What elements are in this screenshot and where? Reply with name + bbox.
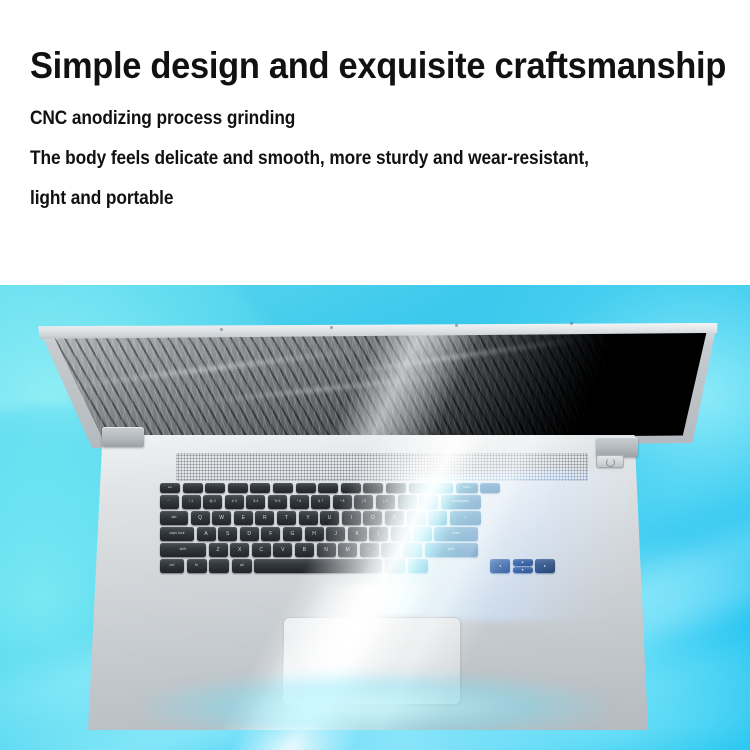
key-7[interactable]: & 7	[311, 495, 330, 509]
keyboard-row-home[interactable]: caps lockASDFGHJKL: ;" 'enter	[160, 527, 478, 541]
key-o[interactable]: O	[363, 511, 382, 525]
key-i[interactable]: I	[342, 511, 361, 525]
key-p[interactable]: P	[385, 511, 404, 525]
key-arrow-up-icon[interactable]: ▴	[513, 559, 533, 566]
keyboard-row-function[interactable]: escprtsc insertdelete	[160, 483, 500, 493]
key-label: K	[356, 532, 359, 537]
key-label: $ 4	[253, 500, 258, 503]
key-9[interactable]: ( 9	[354, 495, 373, 509]
key-n[interactable]: N	[317, 543, 336, 557]
keyboard-row-bottom[interactable]: ctrlfnaltalt	[160, 559, 428, 573]
key-6[interactable]: ^ 6	[290, 495, 309, 509]
key-blank[interactable]: | \	[450, 511, 481, 525]
hinge-left	[102, 427, 144, 447]
key-label: enter	[452, 532, 460, 535]
key-label: ▾	[522, 568, 524, 572]
key-label: C	[259, 548, 263, 553]
hinge-right	[596, 437, 638, 457]
key-label: & 7	[318, 500, 323, 503]
key-enter[interactable]: enter	[434, 527, 478, 541]
power-button[interactable]	[596, 455, 624, 468]
key-label: shift	[180, 548, 187, 551]
key-blank[interactable]: : ;	[391, 527, 410, 541]
subheading-line-1: CNC anodizing process grinding	[30, 109, 658, 128]
key-print-screen-icon[interactable]	[409, 483, 429, 493]
lid-edge-dot-2	[330, 326, 333, 329]
key-a[interactable]: A	[197, 527, 216, 541]
key-label: _ -	[405, 500, 409, 503]
key-label: prtsc insert	[435, 487, 449, 490]
key-volume-up-icon[interactable]	[363, 483, 383, 493]
lid-edge-dot-3	[570, 322, 573, 325]
key-label: backspace	[452, 500, 469, 503]
key-shift[interactable]: shift	[160, 543, 206, 557]
key-label: Z	[217, 548, 220, 553]
key-label: @ 2	[209, 500, 216, 503]
laptop-device: escprtsc insertdelete ~ `! 1@ 2# 3$ 4% 5…	[0, 285, 750, 750]
key-arrow-left-icon[interactable]: ◂	[490, 559, 510, 573]
key-label: M	[346, 548, 350, 553]
key-fn[interactable]: fn	[187, 559, 207, 573]
key-arrow-right-icon[interactable]: ▸	[535, 559, 555, 573]
lid-edge-dot-1	[220, 328, 223, 331]
key-label: U	[328, 516, 332, 521]
key-label: ? /	[410, 548, 414, 551]
key-k[interactable]: K	[348, 527, 367, 541]
key-5[interactable]: % 5	[268, 495, 287, 509]
key-g[interactable]: G	[283, 527, 302, 541]
key-label: A	[204, 532, 207, 537]
key-label: # 3	[232, 500, 237, 503]
key-label: | \	[464, 516, 467, 519]
key-blank[interactable]: " '	[413, 527, 432, 541]
key-x[interactable]: X	[230, 543, 249, 557]
key-q[interactable]: Q	[191, 511, 210, 525]
key-z[interactable]: Z	[209, 543, 228, 557]
key-blank[interactable]: ? /	[403, 543, 422, 557]
key-label: N	[324, 548, 328, 553]
key-blank[interactable]: ~ `	[160, 495, 179, 509]
key-label: F	[269, 532, 272, 537]
key-h[interactable]: H	[305, 527, 324, 541]
product-photo: escprtsc insertdelete ~ `! 1@ 2# 3$ 4% 5…	[0, 285, 750, 750]
key-label: { [	[414, 516, 417, 519]
trackpad[interactable]	[283, 617, 461, 705]
key-label: ctrl	[170, 564, 175, 567]
key-label: I	[351, 516, 353, 521]
key-c[interactable]: C	[252, 543, 271, 557]
key-label: T	[285, 516, 288, 521]
key-volume-down-icon[interactable]	[341, 483, 361, 493]
key-label: H	[312, 532, 316, 537]
key-label: G	[290, 532, 294, 537]
page-title: Simple design and exquisite craftsmanshi…	[30, 46, 672, 85]
key-8[interactable]: * 8	[333, 495, 352, 509]
keyboard-row-zxcv[interactable]: shiftZXCVBNM< ,> .? /shift	[160, 543, 478, 557]
key-label: delete	[463, 487, 471, 490]
speaker-grille	[176, 453, 588, 481]
key-label: W	[219, 516, 224, 521]
key-alt[interactable]: alt	[232, 559, 252, 573]
key-w[interactable]: W	[212, 511, 231, 525]
key-microphone-mute-icon[interactable]	[386, 483, 406, 493]
key-arrow-down-icon[interactable]: ▾	[513, 567, 533, 574]
key-airplane-mode-icon[interactable]	[296, 483, 316, 493]
key-1[interactable]: ! 1	[182, 495, 201, 509]
key-label: ( 9	[362, 500, 366, 503]
key-label: alt	[240, 564, 244, 567]
key-v[interactable]: V	[273, 543, 292, 557]
key-m[interactable]: M	[338, 543, 357, 557]
key-blank[interactable]: { [	[407, 511, 426, 525]
key-label: E	[242, 516, 245, 521]
key-label: > .	[389, 548, 393, 551]
key-label: ▴	[522, 560, 524, 564]
key-screen-mirror-icon[interactable]	[273, 483, 293, 493]
key-insert-icon[interactable]: prtsc insert	[431, 483, 453, 493]
key-blank[interactable]: } ]	[428, 511, 447, 525]
key-r[interactable]: R	[255, 511, 274, 525]
key-label: R	[263, 516, 267, 521]
arrow-up-down-stack[interactable]: ▴▾	[513, 559, 533, 573]
key-label: X	[238, 548, 241, 553]
key-ctrl[interactable]: ctrl	[160, 559, 184, 573]
key-keyboard-backlight-icon[interactable]	[228, 483, 248, 493]
key-backspace[interactable]: backspace	[441, 495, 481, 509]
key-label: shift	[448, 548, 455, 551]
key-blank[interactable]: < ,	[360, 543, 379, 557]
key-label: Y	[306, 516, 309, 521]
key-3[interactable]: # 3	[225, 495, 244, 509]
key-label: fn	[195, 564, 198, 567]
key-label: + =	[426, 500, 431, 503]
webcam-dot	[455, 324, 458, 327]
key-label: % 5	[274, 500, 280, 503]
key-delete-icon[interactable]: delete	[456, 483, 478, 493]
key-brightness-down-icon[interactable]	[183, 483, 203, 493]
key-label: ! 1	[189, 500, 193, 503]
key-label: caps lock	[169, 532, 184, 535]
key-label: ◂	[499, 564, 501, 568]
key-label: ^ 6	[297, 500, 302, 503]
key-caps-lock[interactable]: caps lock	[160, 527, 194, 541]
key-u[interactable]: U	[320, 511, 339, 525]
key-d[interactable]: D	[240, 527, 259, 541]
key-escape-icon[interactable]: esc	[160, 483, 180, 493]
subheading-line-3: light and portable	[30, 189, 658, 208]
key-t[interactable]: T	[277, 511, 296, 525]
key-volume-mute-icon[interactable]	[318, 483, 338, 493]
key-spacebar[interactable]	[254, 559, 382, 573]
keyboard-row-qwerty[interactable]: tabQWERTYUIOP{ [} ]| \	[160, 511, 481, 525]
key-label: alt	[393, 564, 397, 567]
key-y[interactable]: Y	[299, 511, 318, 525]
key-label: S	[226, 532, 229, 537]
keyboard-arrow-cluster[interactable]: ◂▴▾▸	[490, 559, 555, 573]
key-label: tab	[171, 516, 176, 519]
key-label: P	[393, 516, 396, 521]
key-label: ) 0	[383, 500, 387, 503]
key-l[interactable]: L	[369, 527, 388, 541]
key-4[interactable]: $ 4	[246, 495, 265, 509]
key-label: ~ `	[167, 500, 171, 503]
key-blank[interactable]: _ -	[398, 495, 417, 509]
key-label: esc	[168, 487, 172, 490]
key-0[interactable]: ) 0	[376, 495, 395, 509]
key-power-icon[interactable]	[480, 483, 500, 493]
key-label: L	[377, 532, 380, 537]
key-label: } ]	[436, 516, 439, 519]
key-label: D	[247, 532, 251, 537]
key-label: : ;	[399, 532, 402, 535]
key-label: J	[334, 532, 337, 537]
key-windows-icon[interactable]	[209, 559, 229, 573]
key-label: O	[371, 516, 375, 521]
key-label: Q	[198, 516, 202, 521]
subheading-group: CNC anodizing process grinding The body …	[30, 109, 720, 208]
key-shift[interactable]: shift	[425, 543, 478, 557]
key-e[interactable]: E	[234, 511, 253, 525]
key-b[interactable]: B	[295, 543, 314, 557]
key-2[interactable]: @ 2	[203, 495, 222, 509]
key-j[interactable]: J	[326, 527, 345, 541]
key-label: * 8	[340, 500, 344, 503]
key-brightness-up-icon[interactable]	[205, 483, 225, 493]
keyboard[interactable]: escprtsc insertdelete ~ `! 1@ 2# 3$ 4% 5…	[160, 483, 588, 609]
key-label: " '	[420, 532, 423, 535]
marketing-copy-block: Simple design and exquisite craftsmanshi…	[0, 0, 750, 208]
key-label: V	[281, 548, 284, 553]
key-f[interactable]: F	[261, 527, 280, 541]
key-s[interactable]: S	[218, 527, 237, 541]
key-label: B	[303, 548, 306, 553]
key-blank[interactable]: > .	[381, 543, 400, 557]
key-tab[interactable]: tab	[160, 511, 188, 525]
key-label: < ,	[367, 548, 371, 551]
subheading-line-2: The body feels delicate and smooth, more…	[30, 149, 658, 168]
key-label: ▸	[544, 564, 546, 568]
key-search-icon[interactable]	[250, 483, 270, 493]
key-alt[interactable]: alt	[385, 559, 405, 573]
keyboard-row-number[interactable]: ~ `! 1@ 2# 3$ 4% 5^ 6& 7* 8( 9) 0_ -+ =b…	[160, 495, 481, 509]
key-menu-icon[interactable]	[408, 559, 428, 573]
key-blank[interactable]: + =	[419, 495, 438, 509]
